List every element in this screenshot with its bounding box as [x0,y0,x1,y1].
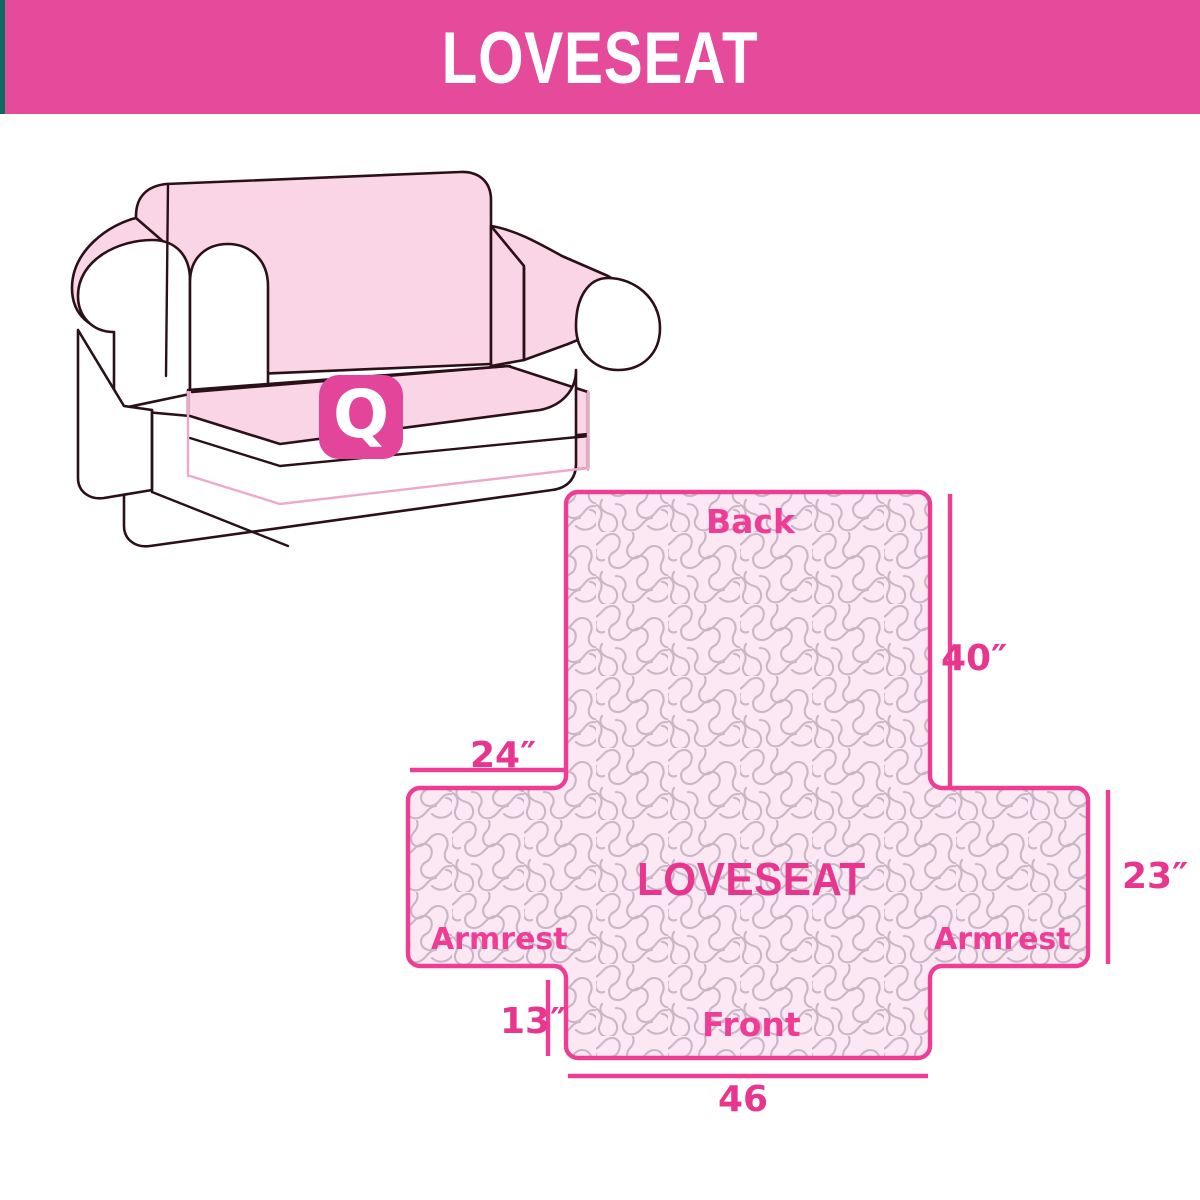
dimension-label-front-height: 13″ [500,1004,566,1040]
pattern-svg [380,460,1170,1160]
dimension-label-armrest-height: 23″ [1122,859,1188,895]
dimension-label-seat-width: 46 [718,1082,768,1118]
header-bar: LOVESEAT [0,0,1200,114]
panel-label-front: Front [702,1008,801,1041]
panel-label-center-loveseat: LOVESEAT [637,856,866,902]
flat-pattern-diagram [380,460,1170,1160]
brand-logo-badge: Q [319,375,403,459]
product-size-diagram-page: LOVESEAT [0,0,1200,1200]
panel-label-armrest-right: Armrest [934,925,1071,955]
header-accent-stripe [0,0,5,114]
brand-logo-letter: Q [333,382,389,448]
dimension-label-armrest-width: 24″ [470,738,536,774]
sofa-right-arm-roll [576,278,660,370]
panel-label-back: Back [706,505,795,538]
page-title: LOVESEAT [442,22,759,95]
dimension-label-back-height: 40″ [941,641,1007,677]
panel-label-armrest-left: Armrest [431,925,568,955]
